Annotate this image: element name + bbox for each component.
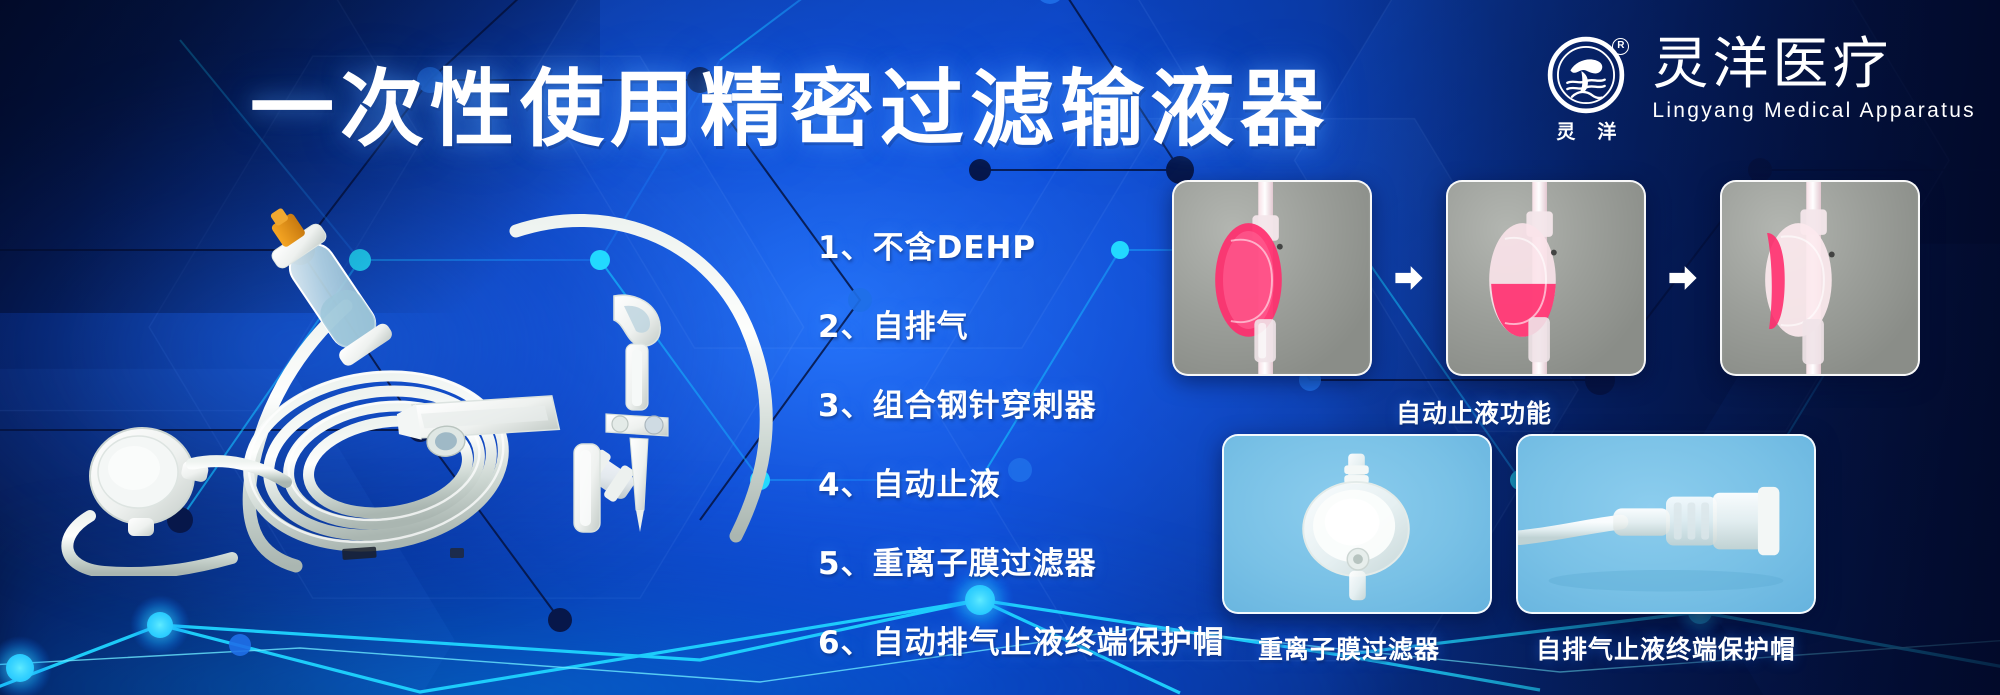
- brand-name-cn: 灵洋医疗: [1652, 36, 1976, 93]
- membrane-filter-svg: [1224, 436, 1490, 612]
- emblem-chinese-label: 灵 洋: [1556, 117, 1616, 144]
- feature-item-5: 5、重离子膜过滤器: [818, 538, 1225, 583]
- registered-mark-icon: R: [1612, 38, 1629, 55]
- product-banner: 一次性使用精密过滤输液器 R 灵 洋 灵洋医疗: [0, 0, 2000, 695]
- product-detail-panels: [1222, 434, 1816, 614]
- feature-item-4: 4、自动止液: [818, 459, 1225, 504]
- right-arrow-icon: [1392, 261, 1426, 295]
- emblem-char-yang: 洋: [1597, 117, 1616, 144]
- auto-stop-photo-3: [1720, 180, 1920, 376]
- auto-stop-photo-2: [1446, 180, 1646, 376]
- infusion-set-svg: [46, 176, 806, 576]
- emblem-wrap: R 灵 洋: [1538, 36, 1634, 144]
- auto-stop-step-1-svg: [1174, 182, 1370, 374]
- arrow-separator-1: [1372, 261, 1446, 295]
- protective-cap: [574, 444, 600, 532]
- auto-stop-sequence: [1172, 180, 1920, 376]
- auto-stop-step-2-svg: [1448, 182, 1644, 374]
- end-cap-svg: [1518, 436, 1814, 612]
- right-arrow-icon: [1666, 261, 1700, 295]
- feature-item-3: 3、组合钢针穿刺器: [818, 380, 1225, 425]
- feature-item-6: 6、自动排气止液终端保护帽: [818, 617, 1225, 662]
- brand-logo: R 灵 洋 灵洋医疗 Lingyang Medical Apparatus: [1538, 36, 1976, 144]
- filter-photo-card: [1222, 434, 1492, 614]
- end-cap-photo-card: [1516, 434, 1816, 614]
- caption-membrane-filter: 重离子膜过滤器: [1258, 630, 1440, 666]
- auto-stop-photo-1: [1172, 180, 1372, 376]
- caption-auto-stop: 自动止液功能: [1396, 394, 1552, 430]
- infusion-set-product-image: [46, 176, 806, 576]
- feature-item-1: 1、不含DEHP: [818, 222, 1225, 267]
- feature-item-2: 2、自排气: [818, 301, 1225, 346]
- brand-name-en: Lingyang Medical Apparatus: [1652, 99, 1976, 123]
- brand-text: 灵洋医疗 Lingyang Medical Apparatus: [1652, 36, 1976, 123]
- membrane-filter: [90, 428, 209, 536]
- page-title: 一次性使用精密过滤输液器: [250, 42, 1330, 163]
- feature-list: 1、不含DEHP 2、自排气 3、组合钢针穿刺器 4、自动止液 5、重离子膜过滤…: [818, 222, 1225, 662]
- drip-chamber: [251, 195, 394, 368]
- auto-stop-step-3-svg: [1722, 182, 1918, 374]
- caption-end-cap: 自排气止液终端保护帽: [1536, 630, 1796, 666]
- lingyang-emblem-icon: R: [1547, 36, 1625, 114]
- emblem-char-ling: 灵: [1556, 117, 1575, 144]
- arrow-separator-2: [1646, 261, 1720, 295]
